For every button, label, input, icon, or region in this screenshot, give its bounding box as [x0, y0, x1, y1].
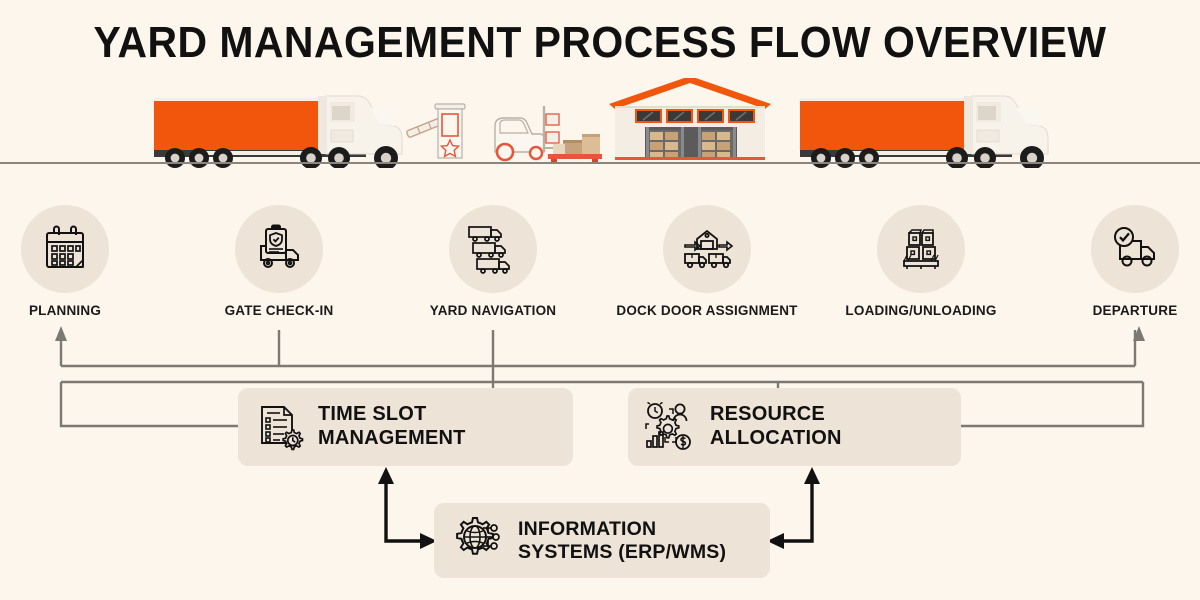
forklift-graphic	[495, 106, 559, 160]
system-box-information-systems[interactable]: INFORMATION SYSTEMS (ERP/WMS)	[434, 503, 770, 578]
step-loading-unloading-circle	[877, 205, 965, 293]
step-dock-door-label: DOCK DOOR ASSIGNMENT	[616, 303, 797, 318]
step-yard-navigation-circle	[449, 205, 537, 293]
truck-clipboard-icon	[252, 222, 306, 276]
resource-gear-people-icon	[644, 402, 696, 452]
calendar-icon	[39, 223, 91, 275]
arrow-to-resource	[804, 467, 820, 484]
gear-globe-network-icon	[450, 516, 504, 566]
step-departure[interactable]: DEPARTURE	[1050, 205, 1200, 318]
step-yard-navigation[interactable]: YARD NAVIGATION	[408, 205, 578, 318]
checklist-gear-clock-icon	[254, 402, 304, 452]
step-dock-door-circle	[663, 205, 751, 293]
step-departure-circle	[1091, 205, 1179, 293]
step-departure-label: DEPARTURE	[1093, 303, 1178, 318]
warehouse-graphic	[609, 78, 771, 160]
system-box-time-slot-management[interactable]: TIME SLOT MANAGEMENT	[238, 388, 573, 466]
step-planning-circle	[21, 205, 109, 293]
system-box-resource-allocation[interactable]: RESOURCE ALLOCATION	[628, 388, 961, 466]
step-gate-check-in-circle	[235, 205, 323, 293]
page-title: YARD MANAGEMENT PROCESS FLOW OVERVIEW	[42, 18, 1158, 68]
arrow-to-time-slot	[378, 467, 394, 484]
step-planning[interactable]: PLANNING	[0, 205, 150, 318]
system-box-time-slot-label: TIME SLOT MANAGEMENT	[318, 403, 466, 450]
step-dock-door[interactable]: DOCK DOOR ASSIGNMENT	[622, 205, 792, 318]
arrow-to-departure	[1133, 326, 1145, 341]
step-gate-check-in-label: GATE CHECK-IN	[225, 303, 334, 318]
guard-booth-graphic	[435, 104, 465, 158]
three-trucks-icon	[465, 223, 521, 275]
step-gate-check-in[interactable]: GATE CHECK-IN	[194, 205, 364, 318]
yard-scene-illustration	[0, 78, 1200, 168]
process-steps-row: PLANNING GATE CHECK-IN	[0, 205, 1200, 320]
system-box-information-systems-label: INFORMATION SYSTEMS (ERP/WMS)	[518, 518, 726, 564]
semi-truck-left-graphic	[154, 96, 402, 168]
system-box-resource-label: RESOURCE ALLOCATION	[710, 403, 842, 450]
semi-truck-right-graphic	[800, 96, 1048, 168]
ground-line	[0, 162, 1200, 164]
warehouse-arrows-icon	[679, 223, 735, 275]
step-loading-unloading[interactable]: LOADING/UNLOADING	[836, 205, 1006, 318]
arrow-to-planning	[55, 326, 67, 341]
infographic-canvas: YARD MANAGEMENT PROCESS FLOW OVERVIEW	[0, 0, 1200, 600]
pallet-boxes-icon	[894, 223, 948, 275]
step-planning-label: PLANNING	[29, 303, 101, 318]
step-loading-unloading-label: LOADING/UNLOADING	[845, 303, 996, 318]
truck-check-icon	[1108, 223, 1162, 275]
step-yard-navigation-label: YARD NAVIGATION	[430, 303, 557, 318]
